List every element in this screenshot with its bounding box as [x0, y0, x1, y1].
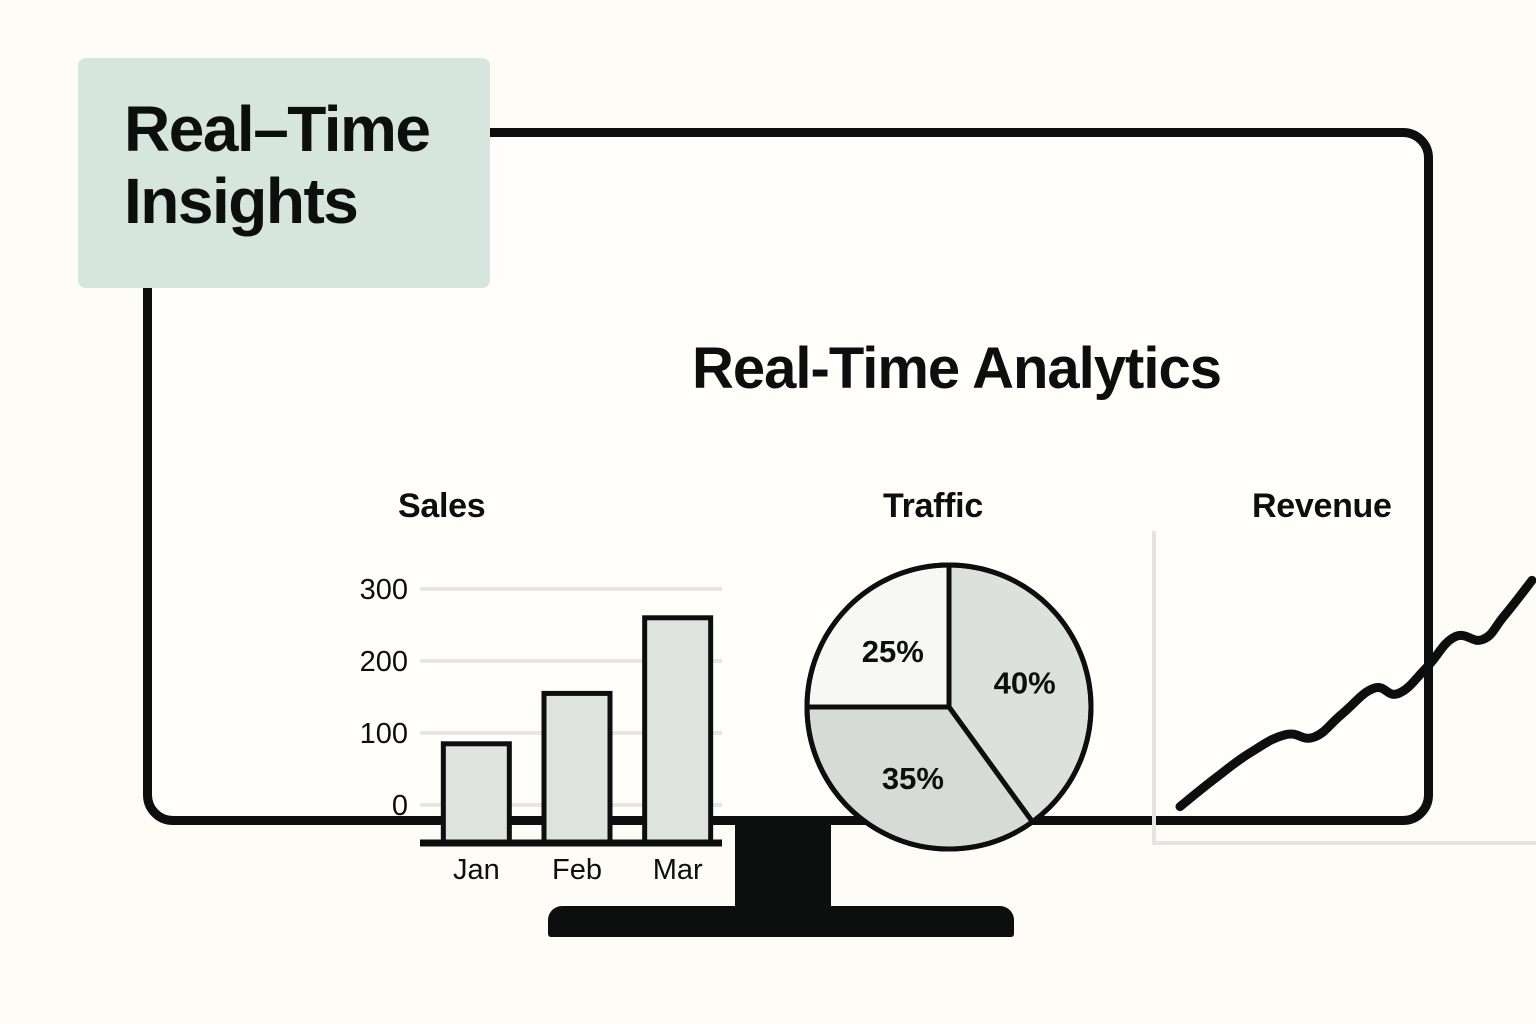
- x-tick-label: Mar: [653, 854, 703, 886]
- bar-mar: [645, 618, 711, 843]
- pie-slice-labels: 40%35%25%: [862, 634, 1056, 796]
- sales-bar-chart: 0100200300 JanFebMar: [352, 557, 752, 887]
- panel-title-traffic: Traffic: [883, 487, 983, 526]
- panel-title-sales: Sales: [398, 487, 485, 526]
- insights-badge-label: Real–Time Insights: [124, 94, 490, 237]
- pie-slice-25pct: [807, 565, 949, 707]
- x-tick-label: Feb: [552, 854, 602, 886]
- pie-label: 25%: [862, 634, 924, 669]
- bar-y-axis-labels: 0100200300: [360, 574, 408, 822]
- y-tick-label: 0: [392, 790, 408, 822]
- monitor-stand-base: [548, 906, 1014, 937]
- monitor-stand-neck: [735, 820, 831, 912]
- y-tick-label: 100: [360, 718, 408, 750]
- pie-label: 35%: [882, 761, 944, 796]
- pie-outline: [807, 565, 1091, 849]
- pie-slices: [807, 565, 1091, 849]
- y-tick-label: 200: [360, 646, 408, 678]
- bar-x-axis-labels: JanFebMar: [453, 854, 703, 886]
- panel-title-revenue: Revenue: [1252, 487, 1392, 526]
- revenue-axes: [1154, 533, 1536, 843]
- poster-canvas: Real-Time Analytics Sales Traffic Revenu…: [0, 0, 1536, 1024]
- traffic-pie-chart: 40%35%25%: [792, 552, 1112, 872]
- bar-gridlines: [420, 589, 722, 805]
- bar-series: [443, 618, 710, 843]
- screen-title: Real-Time Analytics: [692, 335, 1221, 402]
- pie-slice-35pct: [807, 707, 1032, 849]
- revenue-line-chart: [1132, 517, 1536, 862]
- bar-feb: [544, 693, 610, 843]
- revenue-trend-line: [1180, 580, 1532, 806]
- y-tick-label: 300: [360, 574, 408, 606]
- pie-label: 40%: [994, 665, 1056, 700]
- pie-slice-40pct: [949, 565, 1091, 822]
- x-tick-label: Jan: [453, 854, 500, 886]
- insights-badge: Real–Time Insights: [78, 58, 490, 288]
- bar-jan: [443, 744, 509, 843]
